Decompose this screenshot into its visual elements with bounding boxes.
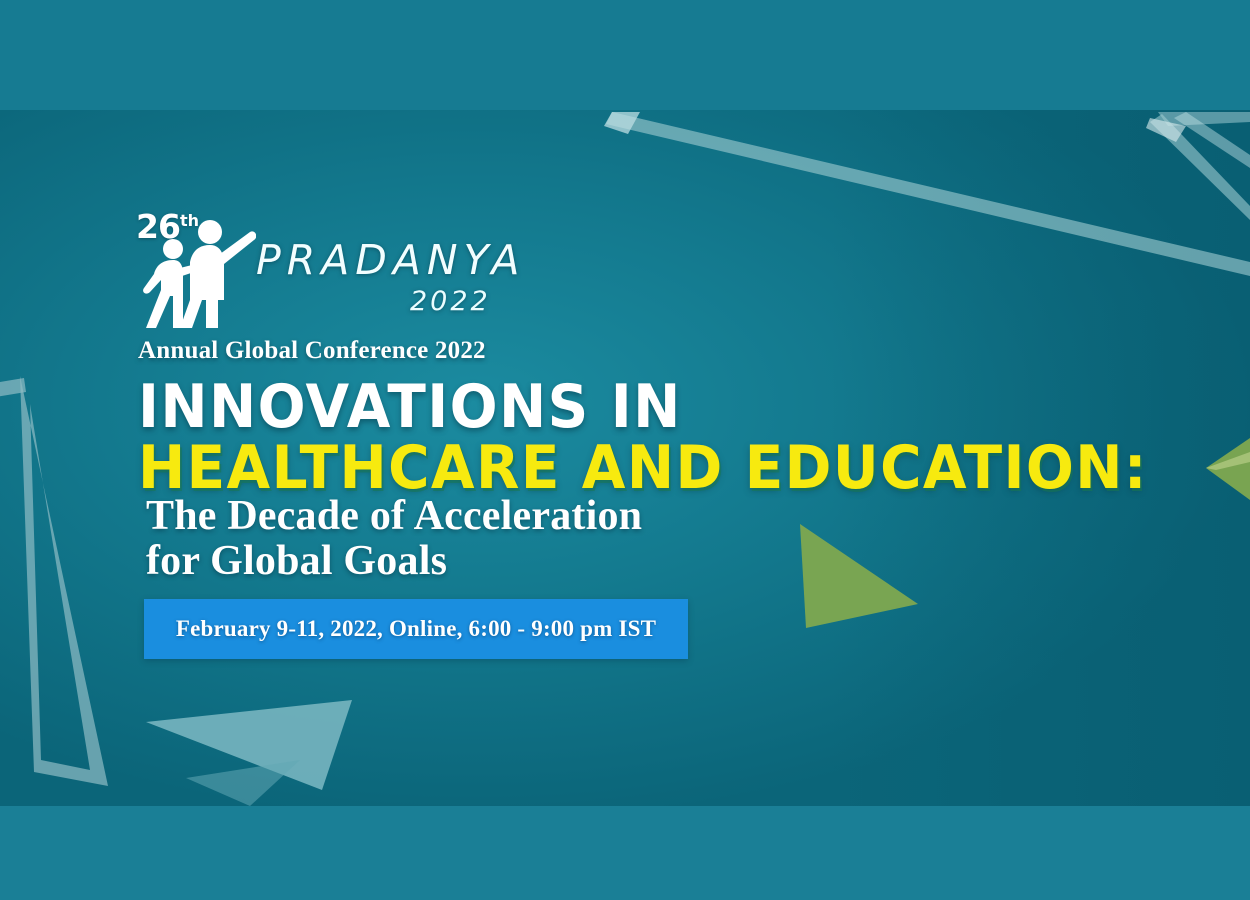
top-band bbox=[0, 0, 1250, 112]
bottom-band bbox=[0, 806, 1250, 900]
date-banner: February 9-11, 2022, Online, 6:00 - 9:00… bbox=[144, 599, 688, 659]
headline-line-1: INNOVATIONS IN bbox=[138, 377, 1153, 438]
subheadline: The Decade of Acceleration for Global Go… bbox=[146, 494, 866, 583]
subheadline-line-1: The Decade of Acceleration bbox=[146, 494, 866, 539]
date-banner-text: February 9-11, 2022, Online, 6:00 - 9:00… bbox=[176, 616, 656, 642]
logo-wordmark: PRADANYA bbox=[256, 240, 525, 281]
logo: 26th PRADANYA 2022 bbox=[132, 204, 492, 334]
logo-year: 2022 bbox=[410, 288, 491, 315]
conference-banner: 26th PRADANYA 2022 Annual Global Confere… bbox=[0, 0, 1250, 900]
headline: INNOVATIONS IN HEALTHCARE AND EDUCATION: bbox=[138, 377, 1218, 499]
headline-line-2: HEALTHCARE AND EDUCATION: bbox=[138, 438, 1153, 499]
kicker-text: Annual Global Conference 2022 bbox=[138, 337, 486, 365]
subheadline-line-2: for Global Goals bbox=[146, 539, 866, 584]
two-human-figures-icon bbox=[132, 204, 256, 330]
